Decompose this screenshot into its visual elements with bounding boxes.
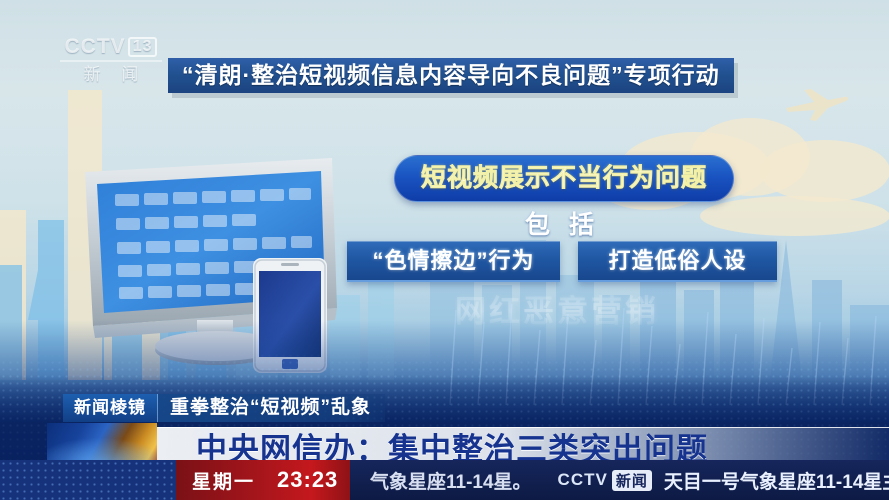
clock-label: 23:23 (277, 467, 338, 493)
ticker-headline: 天目一号气象星座11-14星主要用于提供商业气象数据 (664, 467, 889, 494)
channel-watermark: CCTV13 新 闻 (58, 36, 164, 83)
ticker-dot-panel (0, 460, 176, 500)
connector-label: 包 括 (525, 205, 600, 241)
ticker-cctv-wordmark: CCTV (558, 470, 608, 490)
ticker-cctv-logo: CCTV 新闻 (558, 470, 652, 491)
cctv-wordmark: CCTV (65, 35, 126, 58)
topic-pill-label: 短视频展示不当行为问题 (421, 164, 707, 192)
weekday-label: 星期一 (192, 467, 255, 494)
ghost-text: 网红恶意营销 (455, 286, 659, 331)
kicker-row: 新闻棱镜 重拳整治“短视频”乱象 (63, 394, 385, 422)
news-ticker: 气象星座11-14星。 CCTV 新闻 天目一号气象星座11-14星主要用于提供… (0, 460, 889, 500)
ticker-ghost-text: 气象星座11-14星。 (370, 467, 532, 494)
time-badge: 星期一 23:23 (176, 460, 350, 500)
sub-item-box: “色情擦边”行为 (347, 241, 560, 282)
kicker-label: 重拳整治“短视频”乱象 (158, 394, 385, 422)
campaign-banner: “清朗·整治短视频信息内容导向不良问题”专项行动 (168, 58, 734, 93)
channel-number: 13 (128, 37, 158, 57)
logo-divider (60, 60, 162, 62)
broadcast-frame: CCTV13 新 闻 “清朗·整治短视频信息内容导向不良问题”专项行动 (0, 0, 889, 500)
ticker-news-badge: 新闻 (612, 470, 652, 491)
sub-item-box: 打造低俗人设 (578, 241, 777, 282)
channel-subtitle: 新 闻 (58, 66, 164, 83)
program-tag: 新闻棱镜 (63, 394, 158, 422)
topic-pill: 短视频展示不当行为问题 (394, 155, 734, 202)
